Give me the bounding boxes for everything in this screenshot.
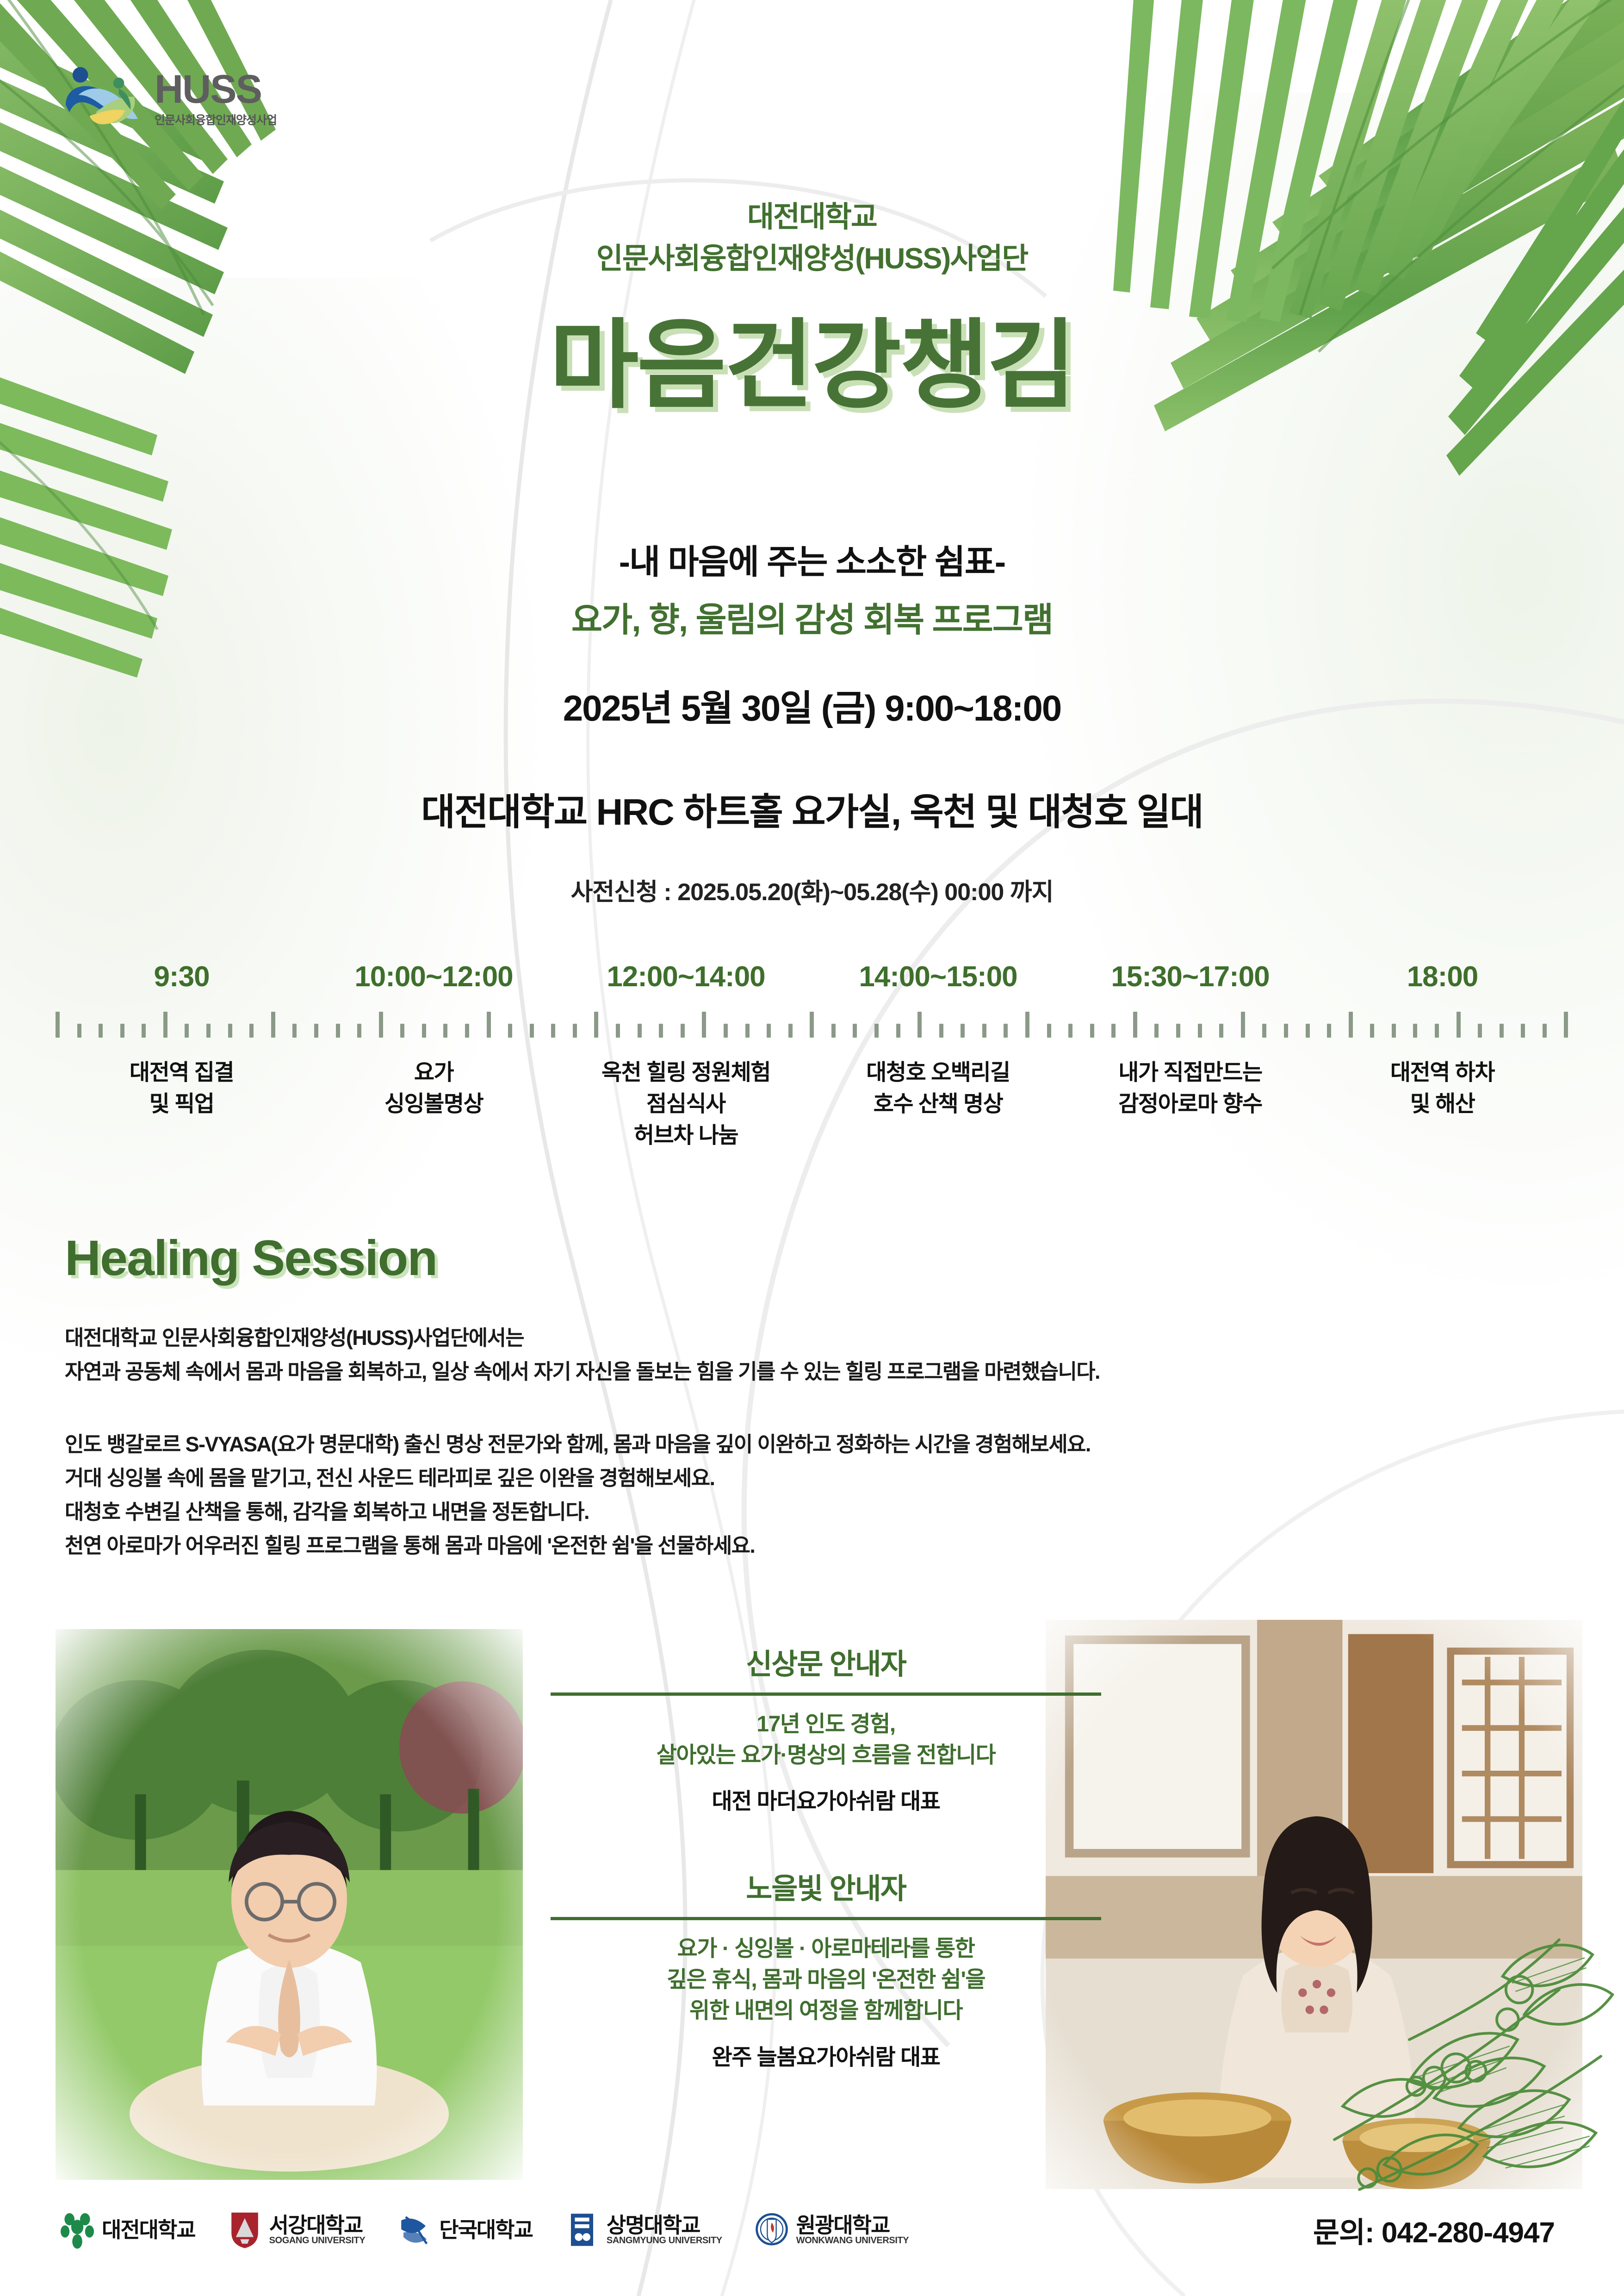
program-subtitle: 요가, 향, 울림의 감성 회복 프로그램: [0, 592, 1624, 641]
ruler-tick-minor: [745, 1024, 750, 1038]
ruler-tick-minor: [336, 1024, 340, 1038]
timeline-ruler: [56, 1009, 1568, 1038]
partner-university: 단국대학교: [397, 2210, 533, 2249]
sogang-university-emblem: [228, 2210, 262, 2249]
daejeon-university-emblem: [60, 2210, 94, 2249]
instructor-photo-right: [1046, 1620, 1582, 2189]
ruler-tick-minor: [314, 1024, 318, 1038]
ruler-tick-minor: [1306, 1024, 1310, 1038]
university-name-ko: 서강대학교: [269, 2215, 366, 2236]
ruler-tick-minor: [1111, 1024, 1116, 1038]
wonkwang-university-emblem: [755, 2210, 789, 2249]
footer: 대전대학교서강대학교SOGANG UNIVERSITY단국대학교상명대학교SAN…: [0, 2186, 1624, 2274]
ruler-tick-major: [1349, 1012, 1353, 1038]
instructor-block-1: 신상문 안내자 17년 인도 경험,살아있는 요가·명상의 흐름을 전합니다 대…: [551, 1641, 1101, 1815]
timeline-activity: 대전역 집결및 픽업: [56, 1057, 308, 1151]
instructor-description: 17년 인도 경험,살아있는 요가·명상의 흐름을 전합니다: [551, 1709, 1101, 1771]
ruler-tick-minor: [659, 1024, 663, 1038]
huss-logo: HUSS 인문사회융합인재양성사업: [60, 65, 277, 133]
university-text: 상명대학교SANGMYUNG UNIVERSITY: [607, 2215, 722, 2245]
ruler-tick-minor: [443, 1024, 447, 1038]
ruler-tick-minor: [249, 1024, 254, 1038]
ruler-tick-minor: [681, 1024, 685, 1038]
university-name-ko: 대전대학교: [102, 2219, 195, 2240]
timeline-time: 9:30: [56, 960, 308, 993]
ruler-tick-minor: [1262, 1024, 1266, 1038]
ruler-tick-major: [1457, 1012, 1461, 1038]
instructor-role: 대전 마더요가아쉬람 대표: [551, 1783, 1101, 1815]
ruler-tick-minor: [961, 1024, 965, 1038]
instructor-divider: [551, 1917, 1101, 1920]
university-text: 원광대학교WONKWANG UNIVERSITY: [796, 2215, 909, 2245]
ruler-tick-minor: [616, 1024, 620, 1038]
ruler-tick-minor: [465, 1024, 469, 1038]
ruler-tick-minor: [1327, 1024, 1331, 1038]
timeline-time: 18:00: [1316, 960, 1568, 993]
instructor-role: 완주 늘봄요가아쉬람 대표: [551, 2039, 1101, 2071]
ruler-tick-major: [487, 1012, 491, 1038]
university-text: 대전대학교: [102, 2219, 195, 2240]
timeline-time: 14:00~15:00: [812, 960, 1064, 993]
ruler-tick-minor: [1435, 1024, 1439, 1038]
timeline-activity: 요가싱잉볼명상: [308, 1057, 560, 1151]
partner-university: 서강대학교SOGANG UNIVERSITY: [228, 2210, 366, 2249]
university-name-ko: 원광대학교: [796, 2215, 909, 2236]
ruler-tick-minor: [573, 1024, 577, 1038]
ruler-tick-minor: [530, 1024, 534, 1038]
timeline-activity: 대전역 하차및 해산: [1316, 1057, 1568, 1151]
ruler-tick-minor: [1004, 1024, 1008, 1038]
ruler-tick-minor: [1219, 1024, 1223, 1038]
paragraph-text: 대전대학교 인문사회융합인재양성(HUSS)사업단에서는자연과 공동체 속에서 …: [65, 1321, 1559, 1389]
timeline-activity: 옥천 힐링 정원체험점심식사허브차 나눔: [560, 1057, 812, 1151]
ruler-tick-minor: [788, 1024, 793, 1038]
huss-logo-mark: [60, 65, 143, 133]
ruler-tick-minor: [1068, 1024, 1072, 1038]
timeline-time: 10:00~12:00: [308, 960, 560, 993]
partner-university: 상명대학교SANGMYUNG UNIVERSITY: [565, 2210, 722, 2249]
ruler-tick-major: [917, 1012, 922, 1038]
ruler-tick-major: [702, 1012, 706, 1038]
ruler-tick-minor: [1047, 1024, 1051, 1038]
university-name-en: WONKWANG UNIVERSITY: [796, 2236, 909, 2245]
ruler-tick-minor: [206, 1024, 211, 1038]
schedule-timeline: 9:3010:00~12:0012:00~14:0014:00~15:0015:…: [56, 960, 1568, 1192]
huss-logo-name: HUSS: [155, 70, 277, 109]
ruler-tick-minor: [1370, 1024, 1374, 1038]
ruler-tick-minor: [1500, 1024, 1504, 1038]
ruler-tick-major: [1133, 1012, 1137, 1038]
org-line-2: 인문사회융합인재양성(HUSS)사업단: [0, 241, 1624, 277]
timeline-time: 12:00~14:00: [560, 960, 812, 993]
ruler-tick-minor: [1154, 1024, 1159, 1038]
university-text: 단국대학교: [439, 2219, 533, 2240]
ruler-tick-minor: [982, 1024, 986, 1038]
ruler-tick-major: [1564, 1012, 1568, 1038]
poster-root: HUSS 인문사회융합인재양성사업 대전대학교 인문사회융합인재양성(HUSS)…: [0, 0, 1624, 2296]
ruler-tick-minor: [1176, 1024, 1180, 1038]
university-name-en: SOGANG UNIVERSITY: [269, 2236, 366, 2245]
ruler-tick-minor: [357, 1024, 361, 1038]
ruler-tick-minor: [1198, 1024, 1202, 1038]
ruler-tick-minor: [1090, 1024, 1094, 1038]
instructor-photo-left: [56, 1629, 523, 2180]
ruler-tick-minor: [831, 1024, 836, 1038]
instructor-description: 요가 · 싱잉볼 · 아로마테라를 통한깊은 휴식, 몸과 마음의 '온전한 쉼…: [551, 1933, 1101, 2027]
healing-paragraph-2: 인도 뱅갈로르 S-VYASA(요가 명문대학) 출신 명상 전문가와 함께, …: [65, 1428, 1559, 1563]
event-venue: 대전대학교 HRC 하트홀 요가실, 옥천 및 대청호 일대: [0, 782, 1624, 836]
ruler-tick-minor: [1543, 1024, 1547, 1038]
partner-university: 원광대학교WONKWANG UNIVERSITY: [755, 2210, 909, 2249]
ruler-tick-major: [810, 1012, 814, 1038]
ruler-tick-minor: [638, 1024, 642, 1038]
ruler-tick-major: [1025, 1012, 1029, 1038]
ruler-tick-minor: [724, 1024, 728, 1038]
registration-period: 사전신청 : 2025.05.20(화)~05.28(수) 00:00 까지: [0, 872, 1624, 907]
instructor-name: 신상문 안내자: [551, 1641, 1101, 1682]
ruler-tick-major: [271, 1012, 275, 1038]
page-title: 마음건강챙김: [0, 315, 1624, 417]
ruler-tick-minor: [120, 1024, 124, 1038]
ruler-tick-minor: [400, 1024, 404, 1038]
ruler-tick-major: [594, 1012, 598, 1038]
timeline-activity: 내가 직접만드는감정아로마 향수: [1064, 1057, 1316, 1151]
ruler-tick-minor: [1478, 1024, 1482, 1038]
ruler-tick-minor: [99, 1024, 103, 1038]
ruler-tick-minor: [228, 1024, 232, 1038]
partner-universities: 대전대학교서강대학교SOGANG UNIVERSITY단국대학교상명대학교SAN…: [60, 2210, 909, 2249]
contact-info: 문의: 042-280-4947: [1313, 2209, 1555, 2251]
ruler-tick-minor: [142, 1024, 146, 1038]
ruler-tick-minor: [939, 1024, 943, 1038]
huss-logo-text: HUSS 인문사회융합인재양성사업: [155, 70, 277, 128]
ruler-tick-minor: [767, 1024, 771, 1038]
ruler-tick-major: [379, 1012, 383, 1038]
instructor-divider: [551, 1692, 1101, 1696]
instructor-name: 노을빛 안내자: [551, 1865, 1101, 1907]
ruler-tick-minor: [551, 1024, 555, 1038]
healing-session-heading: Healing Session: [65, 1229, 437, 1287]
partner-university: 대전대학교: [60, 2210, 195, 2249]
ruler-tick-minor: [1413, 1024, 1417, 1038]
ruler-tick-minor: [853, 1024, 857, 1038]
instructor-block-2: 노을빛 안내자 요가 · 싱잉볼 · 아로마테라를 통한깊은 휴식, 몸과 마음…: [551, 1865, 1101, 2071]
ruler-tick-minor: [1284, 1024, 1288, 1038]
ruler-tick-minor: [185, 1024, 189, 1038]
university-text: 서강대학교SOGANG UNIVERSITY: [269, 2215, 366, 2245]
university-name-ko: 단국대학교: [439, 2219, 533, 2240]
university-name-en: SANGMYUNG UNIVERSITY: [607, 2236, 722, 2245]
ruler-tick-minor: [1521, 1024, 1525, 1038]
paragraph-text: 인도 뱅갈로르 S-VYASA(요가 명문대학) 출신 명상 전문가와 함께, …: [65, 1428, 1559, 1563]
timeline-descriptions-row: 대전역 집결및 픽업요가싱잉볼명상옥천 힐링 정원체험점심식사허브차 나눔대청호…: [56, 1057, 1568, 1151]
ruler-tick-minor: [422, 1024, 426, 1038]
healing-paragraph-1: 대전대학교 인문사회융합인재양성(HUSS)사업단에서는자연과 공동체 속에서 …: [65, 1321, 1559, 1389]
ruler-tick-minor: [1392, 1024, 1396, 1038]
sangmyung-university-emblem: [565, 2210, 599, 2249]
event-date: 2025년 5월 30일 (금) 9:00~18:00: [0, 679, 1624, 731]
huss-logo-subtitle: 인문사회융합인재양성사업: [155, 111, 277, 128]
org-line-1: 대전대학교: [0, 199, 1624, 236]
ruler-tick-major: [163, 1012, 167, 1038]
timeline-times-row: 9:3010:00~12:0012:00~14:0014:00~15:0015:…: [56, 960, 1568, 993]
ruler-tick-minor: [292, 1024, 297, 1038]
slogan-text: -내 마음에 주는 소소한 쉼표-: [0, 535, 1624, 584]
ruler-tick-major: [56, 1012, 60, 1038]
ruler-tick-minor: [896, 1024, 900, 1038]
dankook-university-emblem: [397, 2210, 432, 2249]
timeline-time: 15:30~17:00: [1064, 960, 1316, 993]
ruler-tick-minor: [508, 1024, 512, 1038]
ruler-tick-minor: [874, 1024, 879, 1038]
university-name-ko: 상명대학교: [607, 2215, 722, 2236]
timeline-activity: 대청호 오백리길호수 산책 명상: [812, 1057, 1064, 1151]
ruler-tick-major: [1241, 1012, 1245, 1038]
ruler-tick-minor: [77, 1024, 81, 1038]
